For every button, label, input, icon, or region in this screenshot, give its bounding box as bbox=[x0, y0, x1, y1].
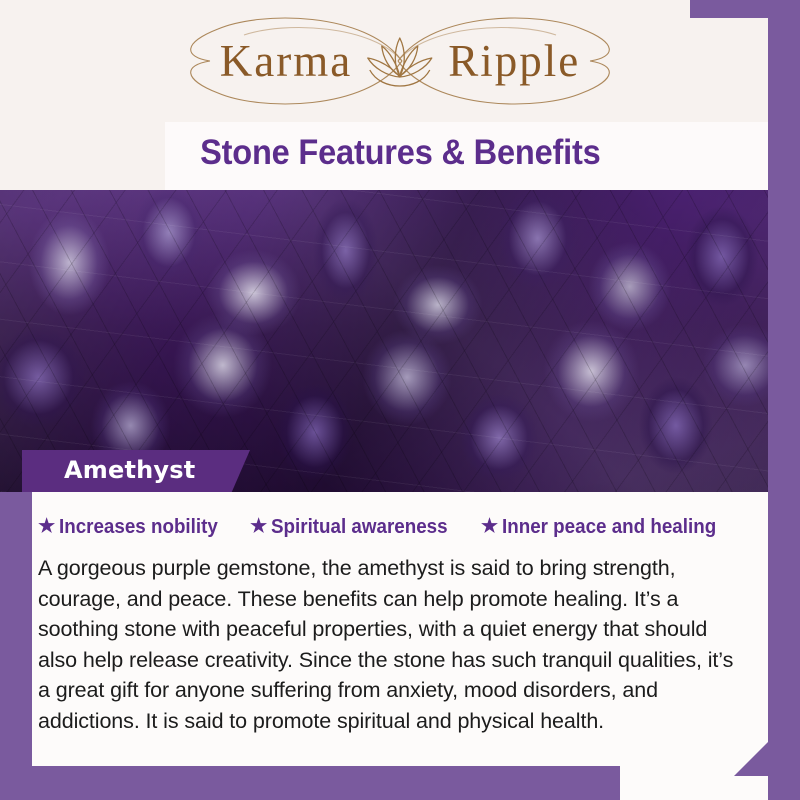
star-icon: ★ bbox=[38, 517, 55, 536]
frame-corner-notch bbox=[734, 742, 768, 776]
frame-bottom-edge bbox=[0, 766, 620, 800]
star-icon: ★ bbox=[481, 517, 498, 536]
benefit-label-2: Spiritual awareness bbox=[271, 516, 448, 539]
benefit-item-3: ★ Inner peace and healing bbox=[481, 516, 730, 539]
frame-left-edge bbox=[0, 492, 32, 800]
hero-vignette bbox=[0, 190, 768, 492]
brand-header: Karma Ripple bbox=[0, 0, 800, 122]
page-title-text: Stone Features & Benefits bbox=[200, 133, 601, 173]
title-band: Stone Features & Benefits bbox=[0, 122, 800, 190]
frame-right-edge bbox=[768, 0, 800, 800]
page-title: Stone Features & Benefits bbox=[0, 135, 800, 175]
amethyst-hero-image bbox=[0, 190, 768, 492]
benefits-list: ★ Increases nobility ★ Spiritual awarene… bbox=[34, 492, 734, 539]
lotus-icon bbox=[356, 24, 444, 98]
stone-name-banner: Amethyst bbox=[22, 450, 250, 492]
brand-word-left: Karma bbox=[220, 39, 352, 84]
benefit-label-1: Increases nobility bbox=[59, 516, 218, 539]
product-info-card: Karma Ripple Stone Features & bbox=[0, 0, 800, 800]
brand-word-right: Ripple bbox=[448, 39, 580, 84]
benefit-item-2: ★ Spiritual awareness bbox=[250, 516, 459, 539]
benefit-label-3: Inner peace and healing bbox=[502, 516, 716, 539]
star-icon: ★ bbox=[250, 517, 267, 536]
stone-description: A gorgeous purple gemstone, the amethyst… bbox=[38, 553, 734, 736]
stone-name-label: Amethyst bbox=[22, 458, 195, 482]
benefit-item-1: ★ Increases nobility bbox=[38, 516, 228, 539]
content-panel: ★ Increases nobility ★ Spiritual awarene… bbox=[0, 492, 768, 766]
